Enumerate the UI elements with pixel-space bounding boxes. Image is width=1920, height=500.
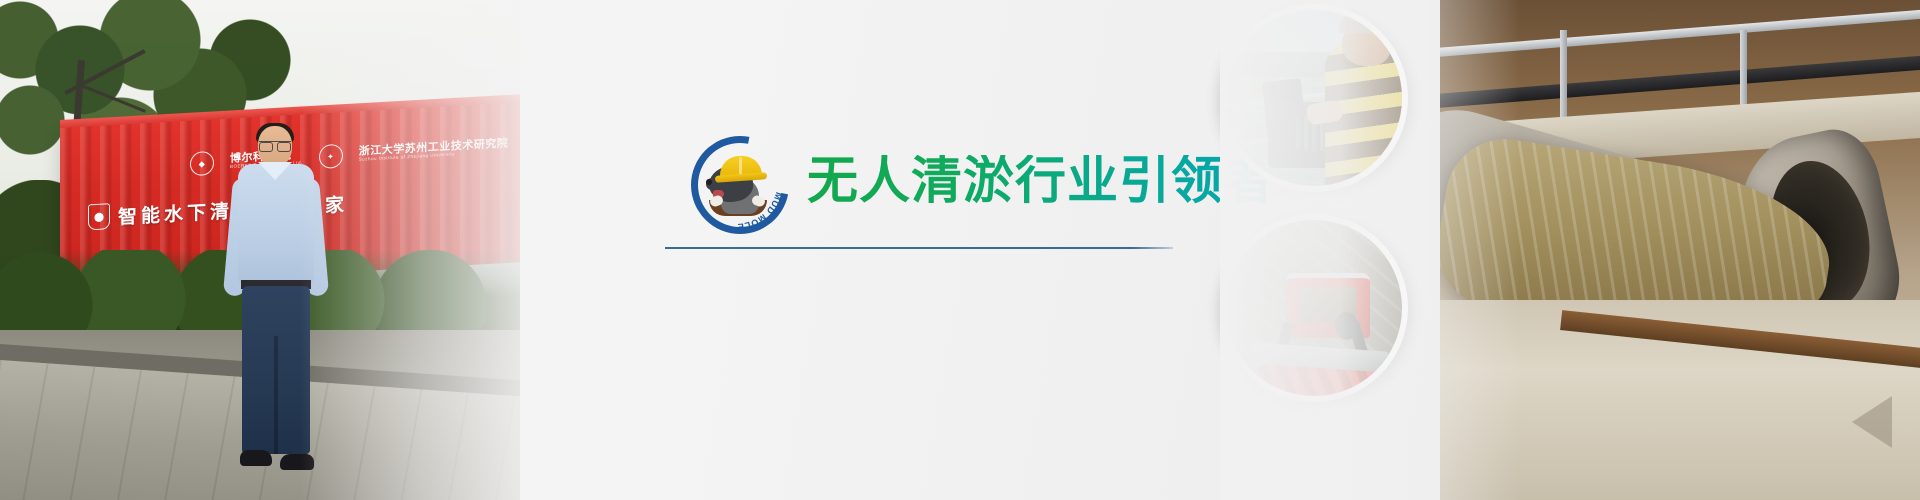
- logo-and-headline: MUD MOLE 无人清淤行业引领者: [685, 130, 1275, 230]
- handrail-upper: [1440, 7, 1920, 58]
- zju-partner-text: 浙江大学苏州工业技术研究院 Suzhou Institute of Zhejia…: [359, 138, 509, 163]
- person-glasses: [259, 141, 291, 150]
- person-right-shoe: [280, 454, 314, 470]
- person-shirt: [238, 164, 314, 284]
- logo-arc-label: MUD MOLE: [737, 191, 784, 230]
- left-site-photo: ◆ 博尔科·环境 BOERKE Technology Co.,Ltd. ✦ 浙江…: [0, 0, 520, 500]
- person-figure: [228, 126, 324, 500]
- float-buoy: [1251, 87, 1262, 93]
- mud-mole-logo: MUD MOLE: [685, 130, 785, 230]
- person-left-shoe: [240, 450, 272, 466]
- slogan-badge-icon: ⬤: [88, 203, 110, 230]
- hero-banner: ◆ 博尔科·环境 BOERKE Technology Co.,Ltd. ✦ 浙江…: [0, 0, 1920, 500]
- logo-arc-text-icon: MUD MOLE: [685, 130, 785, 230]
- operator-console-photo: [1220, 4, 1408, 192]
- sludge-discharge-photo: [1440, 0, 1920, 500]
- dredging-robot-photo: [1220, 214, 1408, 402]
- page-title: 无人清淤行业引领者: [807, 155, 1275, 206]
- right-media-group: [1220, 0, 1920, 500]
- operator-cap: [1339, 15, 1395, 33]
- person-leg-seam: [274, 336, 278, 454]
- banner-center-content: MUD MOLE 无人清淤行业引领者: [660, 0, 1220, 500]
- headline-divider: [665, 247, 1173, 249]
- boerke-logo-icon: ◆: [190, 151, 214, 176]
- arrow-watermark-icon: [1852, 396, 1892, 448]
